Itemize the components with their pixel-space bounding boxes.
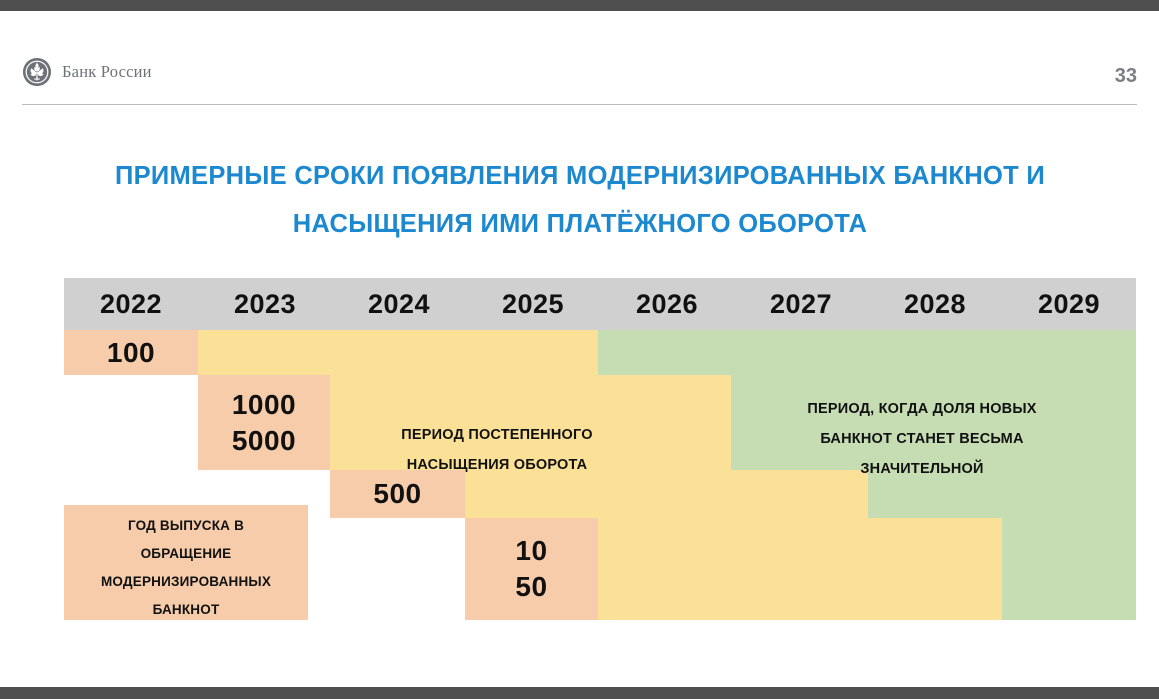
window-top-frame [0,0,1159,11]
brand-name: Банк России [62,62,152,82]
legend-line: МОДЕРНИЗИРОВАННЫХ [64,568,308,596]
denomination-value: 1000 [232,389,296,421]
timeline-bands: 100 1000 5000 500 10 50 ПЕРИОД ПОСТЕПЕНН… [64,330,1136,620]
annotation-line: НАСЫЩЕНИЯ ОБОРОТА [332,450,662,480]
legend-key-label: ГОД ВЫПУСКА В ОБРАЩЕНИЕ МОДЕРНИЗИРОВАННЫ… [64,512,308,624]
band-significant-share [1002,518,1136,620]
band-significant-share [598,330,1136,375]
denomination-value: 100 [107,337,155,369]
year-header-cell: 2023 [198,278,332,330]
annotation-line: ПЕРИОД, КОГДА ДОЛЯ НОВЫХ [744,394,1100,424]
denomination-2022: 100 [64,330,198,375]
page-number: 33 [1115,65,1137,88]
annotation-line: ЗНАЧИТЕЛЬНОЙ [744,454,1100,484]
legend-line: БАНКНОТ [64,596,308,624]
window-bottom-frame [0,687,1159,699]
year-header-row: 2022 2023 2024 2025 2026 2027 2028 2029 [64,278,1136,330]
year-header-cell: 2029 [1002,278,1136,330]
annotation-line: БАНКНОТ СТАНЕТ ВЕСЬМА [744,424,1100,454]
denomination-value: 50 [515,571,547,603]
denomination-value: 10 [515,535,547,567]
year-header-cell: 2027 [734,278,868,330]
page-title-line-1: ПРИМЕРНЫЕ СРОКИ ПОЯВЛЕНИЯ МОДЕРНИЗИРОВАН… [80,152,1080,200]
legend-line: ГОД ВЫПУСКА В [64,512,308,540]
year-header-cell: 2024 [332,278,466,330]
year-header-cell: 2028 [868,278,1002,330]
year-header-cell: 2025 [466,278,600,330]
slide-header: Банк России 33 [0,11,1159,93]
annotation-gradual-saturation: ПЕРИОД ПОСТЕПЕННОГО НАСЫЩЕНИЯ ОБОРОТА [332,420,662,480]
bank-of-russia-emblem-icon [22,57,52,87]
band-gradual-saturation [198,330,598,375]
denomination-value: 5000 [232,425,296,457]
page-title: ПРИМЕРНЫЕ СРОКИ ПОЯВЛЕНИЯ МОДЕРНИЗИРОВАН… [80,152,1080,248]
legend-line: ОБРАЩЕНИЕ [64,540,308,568]
denomination-value: 500 [373,478,421,510]
brand: Банк России [22,57,152,87]
slide-canvas: Банк России 33 ПРИМЕРНЫЕ СРОКИ ПОЯВЛЕНИЯ… [0,0,1159,699]
denomination-2025: 10 50 [465,518,598,620]
page-title-line-2: НАСЫЩЕНИЯ ИМИ ПЛАТЁЖНОГО ОБОРОТА [80,200,1080,248]
year-header-cell: 2022 [64,278,198,330]
timeline-chart: 2022 2023 2024 2025 2026 2027 2028 2029 [64,278,1136,620]
header-divider [22,104,1137,105]
annotation-significant-share: ПЕРИОД, КОГДА ДОЛЯ НОВЫХ БАНКНОТ СТАНЕТ … [744,394,1100,484]
annotation-line: ПЕРИОД ПОСТЕПЕННОГО [332,420,662,450]
denomination-2023: 1000 5000 [198,375,330,470]
year-header-cell: 2026 [600,278,734,330]
